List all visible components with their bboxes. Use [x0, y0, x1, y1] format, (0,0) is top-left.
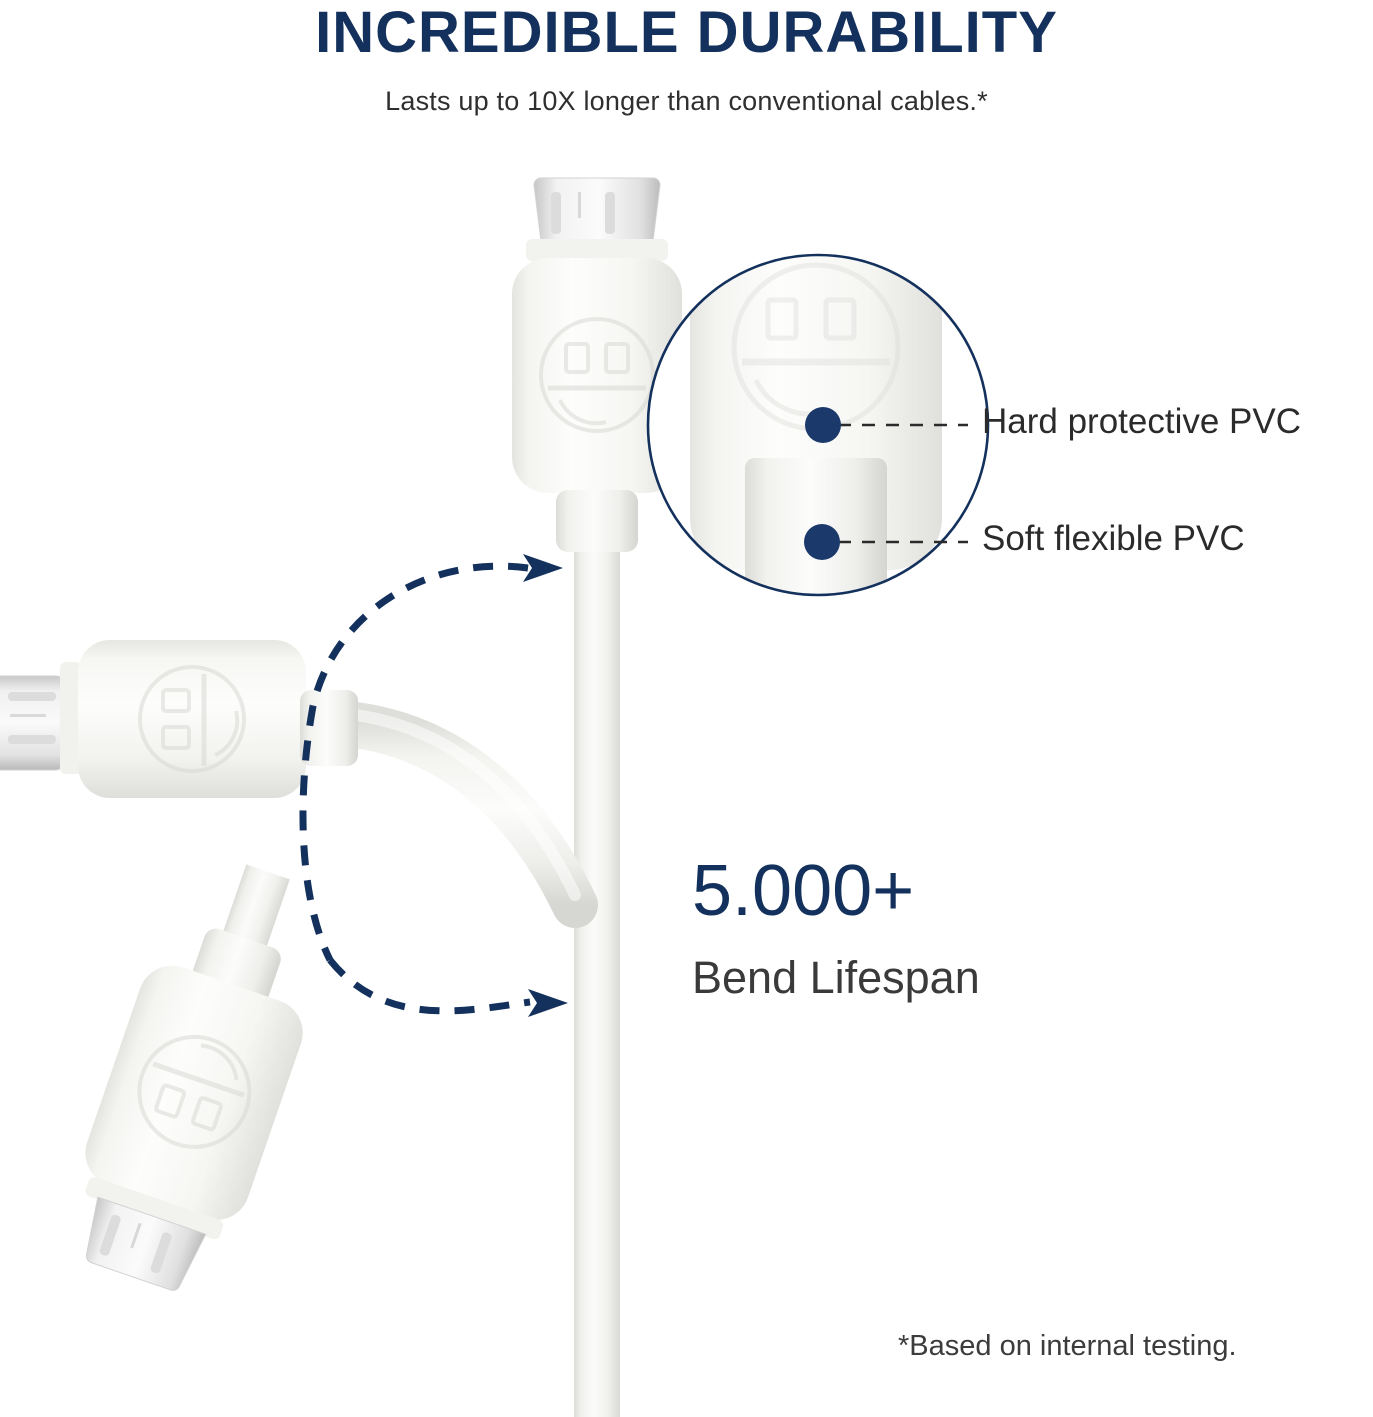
connector-left [0, 640, 358, 798]
product-illustration [0, 0, 1373, 1417]
bend-arrow-icon [303, 554, 568, 1017]
connector-top [512, 178, 682, 552]
callout-label-soft-pvc: Soft flexible PVC [982, 521, 1245, 556]
infographic-canvas: INCREDIBLE DURABILITY Lasts up to 10X lo… [0, 0, 1373, 1417]
footnote-text: *Based on internal testing. [898, 1332, 1237, 1361]
marker-dot-icon [804, 524, 840, 560]
bend-count-value: 5.000+ [692, 855, 980, 927]
connector-bottom-left [51, 845, 351, 1304]
vertical-cable [574, 545, 620, 1417]
bend-lifespan-stat: 5.000+ Bend Lifespan [692, 855, 980, 1000]
bend-count-caption: Bend Lifespan [692, 955, 980, 1000]
marker-dot-icon [805, 407, 841, 443]
callout-label-hard-pvc: Hard protective PVC [982, 404, 1301, 439]
